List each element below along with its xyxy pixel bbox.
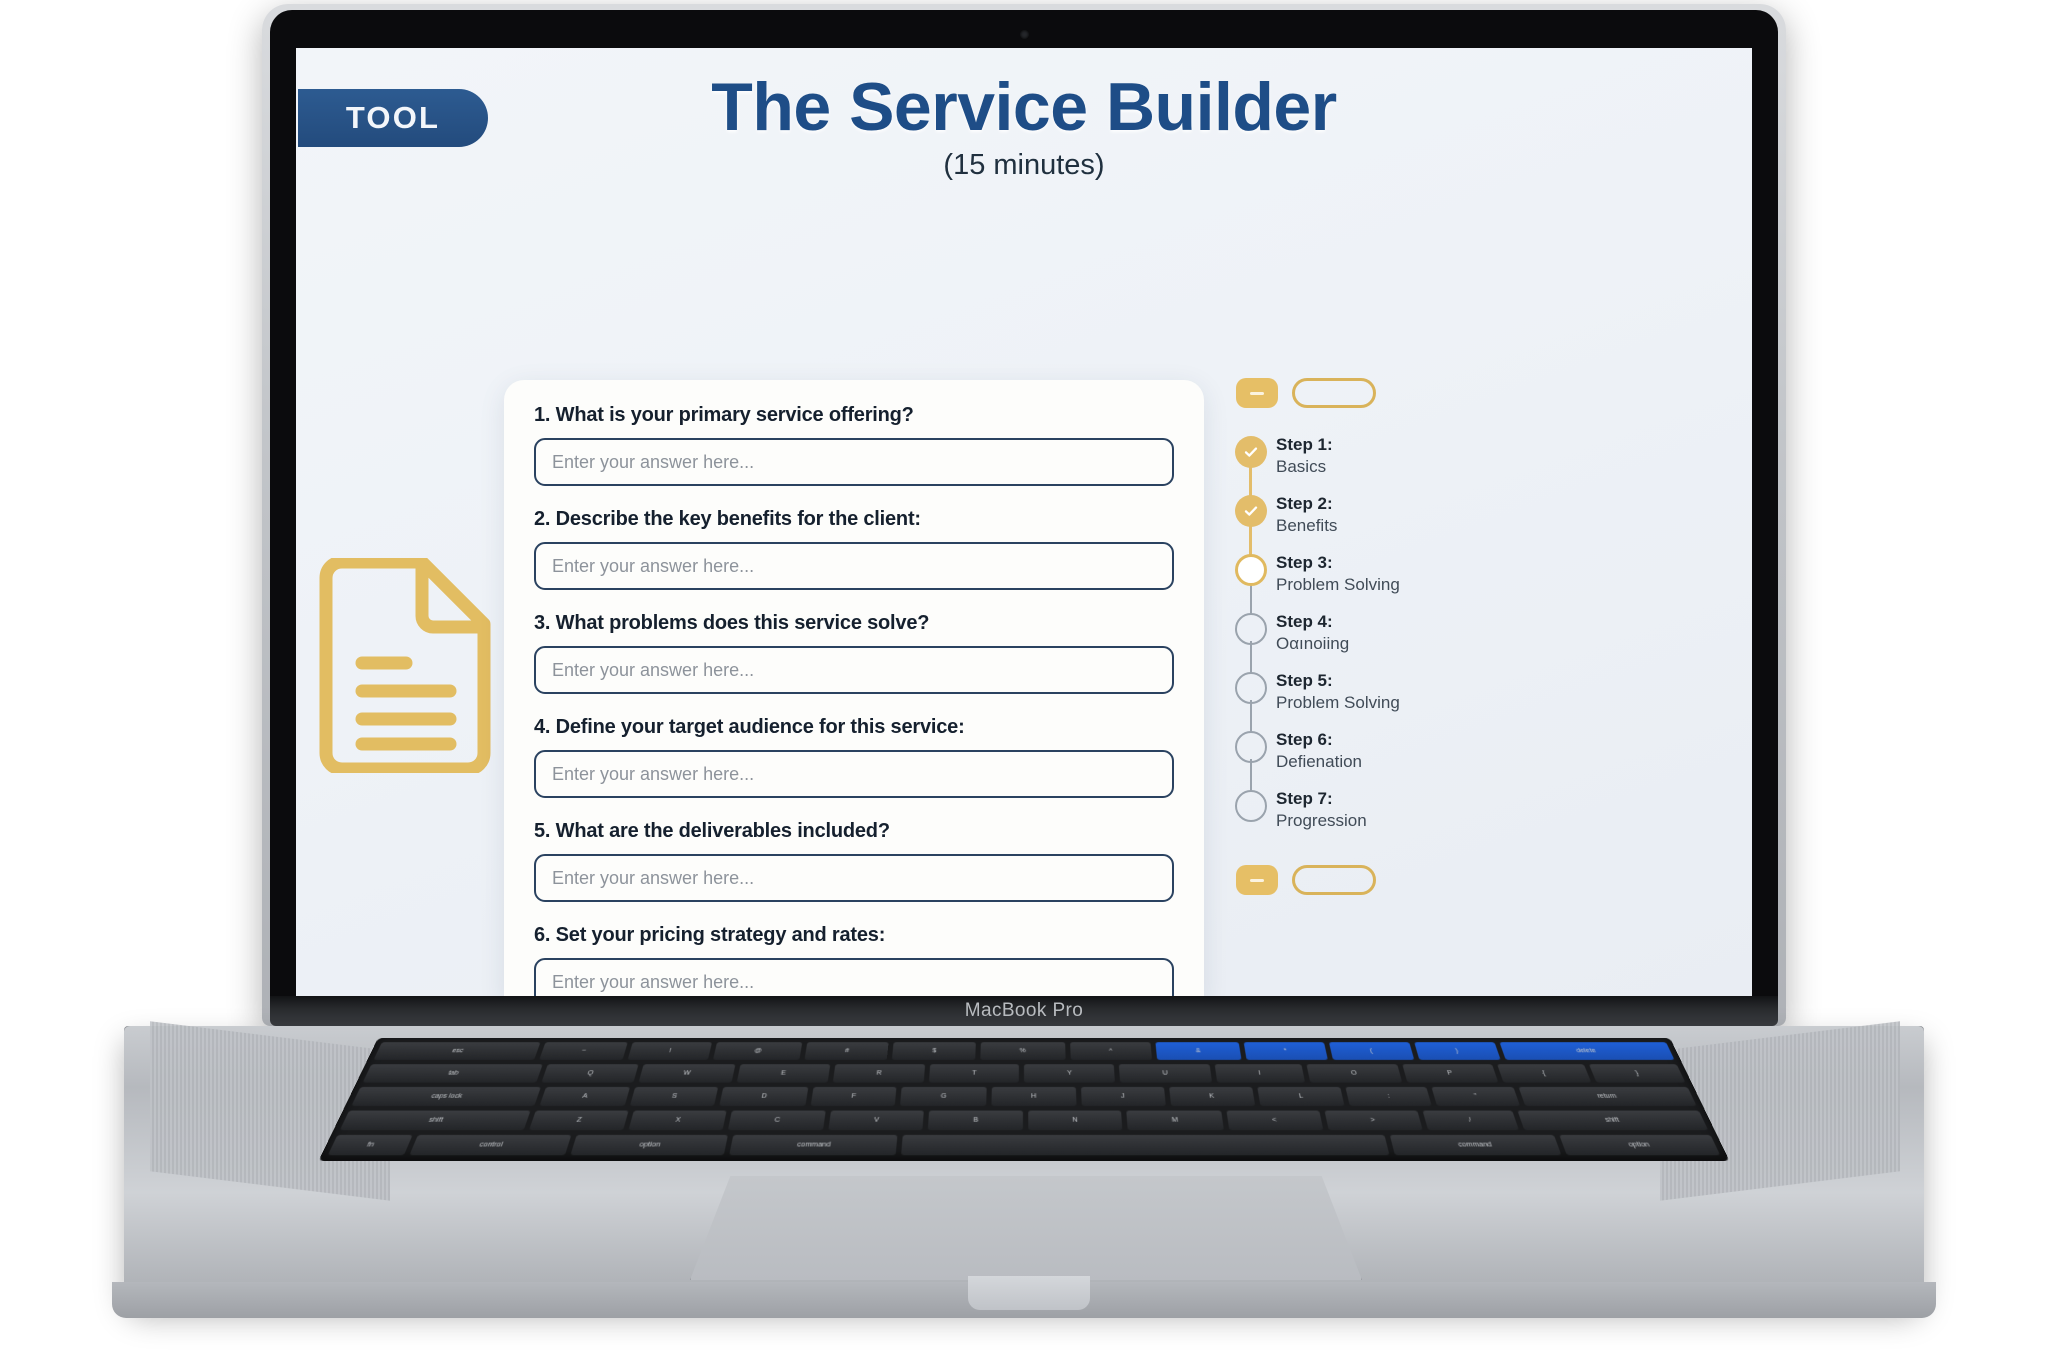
key-D[interactable]: D <box>720 1087 808 1106</box>
key-O[interactable]: O <box>1306 1064 1402 1082</box>
key-fn[interactable]: fn <box>328 1135 413 1155</box>
step-text: Step 7:Progression <box>1276 788 1367 831</box>
question-label: 5. What are the deliverables included? <box>534 820 1174 843</box>
step-label: Basics <box>1276 456 1333 478</box>
document-icon <box>302 558 502 778</box>
screen-viewport: TOOL The Service Builder (15 minutes) <box>296 48 1752 996</box>
key-delete[interactable]: delete <box>1499 1042 1674 1060</box>
key-A[interactable]: A <box>539 1087 629 1106</box>
key-B[interactable]: B <box>928 1111 1022 1131</box>
step-text: Step 3:Problem Solving <box>1276 552 1400 595</box>
step-title: Step 2: <box>1276 494 1337 515</box>
step-item-5[interactable]: Step 5:Problem Solving <box>1232 670 1492 729</box>
key-caps lock[interactable]: caps lock <box>351 1087 540 1106</box>
check-icon <box>1242 443 1260 461</box>
camera-icon <box>1020 30 1029 39</box>
key-space[interactable] <box>901 1135 1390 1155</box>
step-item-6[interactable]: Step 6:Defienation <box>1232 729 1492 788</box>
key-V[interactable]: V <box>828 1111 924 1131</box>
device-model-label: MacBook Pro <box>965 1000 1083 1022</box>
question-block: 3. What problems does this service solve… <box>534 612 1174 694</box>
page-subtitle: (15 minutes) <box>296 149 1752 182</box>
step-node-done[interactable] <box>1235 436 1267 468</box>
answer-input[interactable] <box>534 958 1174 996</box>
step-node-todo[interactable] <box>1235 613 1267 645</box>
step-connector <box>1250 700 1252 732</box>
stepper-top-pill-button[interactable] <box>1292 378 1376 408</box>
step-node-todo[interactable] <box>1235 672 1267 704</box>
step-node-todo[interactable] <box>1235 790 1267 822</box>
key-H[interactable]: H <box>991 1087 1076 1106</box>
question-label: 3. What problems does this service solve… <box>534 612 1174 635</box>
question-block: 5. What are the deliverables included? <box>534 820 1174 902</box>
key-~[interactable]: ~ <box>539 1042 627 1060</box>
key-command[interactable]: command <box>729 1135 897 1155</box>
step-title: Step 5: <box>1276 671 1400 692</box>
key-{[interactable]: { <box>1497 1064 1592 1082</box>
key-F[interactable]: F <box>810 1087 896 1106</box>
step-item-1[interactable]: Step 1:Basics <box>1232 434 1492 493</box>
keyboard-row-4: shiftZXCVBNM<>/shift <box>333 1111 1714 1131</box>
key-option[interactable]: option <box>1559 1135 1720 1155</box>
key-S[interactable]: S <box>630 1087 719 1106</box>
question-label: 6. Set your pricing strategy and rates: <box>534 924 1174 947</box>
key-M[interactable]: M <box>1127 1111 1224 1131</box>
answer-input[interactable] <box>534 542 1174 590</box>
key-shift[interactable]: shift <box>340 1111 531 1131</box>
key-R[interactable]: R <box>832 1064 925 1082</box>
key-W[interactable]: W <box>638 1064 735 1082</box>
laptop-front-notch <box>968 1276 1090 1310</box>
key-^[interactable]: ^ <box>1070 1042 1153 1060</box>
key-P[interactable]: P <box>1402 1064 1498 1082</box>
answer-input[interactable] <box>534 854 1174 902</box>
question-block: 6. Set your pricing strategy and rates: <box>534 924 1174 996</box>
answer-input[interactable] <box>534 438 1174 486</box>
step-item-2[interactable]: Step 2:Benefits <box>1232 493 1492 552</box>
question-block: 4. Define your target audience for this … <box>534 716 1174 798</box>
key-$[interactable]: $ <box>892 1042 975 1060</box>
key-Y[interactable]: Y <box>1024 1064 1115 1082</box>
page-title: The Service Builder <box>296 72 1752 143</box>
key-T[interactable]: T <box>929 1064 1020 1082</box>
key-/[interactable]: / <box>1422 1111 1519 1131</box>
key-control[interactable]: control <box>409 1135 571 1155</box>
step-text: Step 1:Basics <box>1276 434 1333 477</box>
question-label: 1. What is your primary service offering… <box>534 404 1174 427</box>
step-connector <box>1250 641 1252 673</box>
key-C[interactable]: C <box>728 1111 826 1131</box>
minus-icon <box>1250 392 1264 395</box>
step-connector <box>1249 523 1252 555</box>
key-*[interactable]: * <box>1243 1042 1327 1060</box>
step-node-done[interactable] <box>1235 495 1267 527</box>
step-node-current[interactable] <box>1235 554 1267 586</box>
key-option[interactable]: option <box>570 1135 728 1155</box>
step-label: Benefits <box>1276 515 1337 537</box>
key-:[interactable]: : <box>1346 1087 1432 1106</box>
trackpad[interactable] <box>690 1176 1362 1280</box>
step-label: Defienation <box>1276 751 1362 773</box>
question-block: 2. Describe the key benefits for the cli… <box>534 508 1174 590</box>
step-connector <box>1249 464 1252 496</box>
page-header: TOOL The Service Builder (15 minutes) <box>296 48 1752 228</box>
step-title: Step 1: <box>1276 435 1333 456</box>
key-K[interactable]: K <box>1169 1087 1256 1106</box>
answer-input[interactable] <box>534 750 1174 798</box>
check-icon <box>1242 502 1260 520</box>
laptop-chin: MacBook Pro <box>270 996 1778 1026</box>
step-item-3[interactable]: Step 3:Problem Solving <box>1232 552 1492 611</box>
key-esc[interactable]: esc <box>373 1042 540 1060</box>
page-body: 1. What is your primary service offering… <box>296 228 1752 996</box>
step-title: Step 7: <box>1276 789 1367 810</box>
collapse-button-bottom[interactable] <box>1236 865 1278 895</box>
step-item-7[interactable]: Step 7:Progression <box>1232 788 1492 847</box>
step-text: Step 5:Problem Solving <box>1276 670 1400 713</box>
key-N[interactable]: N <box>1028 1111 1123 1131</box>
stepper-top-controls <box>1236 378 1492 408</box>
minus-icon-bottom <box>1250 879 1264 882</box>
step-list: Step 1:BasicsStep 2:BenefitsStep 3:Probl… <box>1232 434 1492 847</box>
key-Z[interactable]: Z <box>529 1111 629 1131</box>
keyboard-row-1: esc~!@#$%^&*()delete <box>367 1042 1680 1060</box>
step-text: Step 4:Oαınoiing <box>1276 611 1349 654</box>
keyboard-row-2: tabQWERTYUIOP{} <box>356 1064 1691 1082</box>
question-label: 2. Describe the key benefits for the cli… <box>534 508 1174 531</box>
key-%[interactable]: % <box>980 1042 1065 1060</box>
key-E[interactable]: E <box>736 1064 830 1082</box>
question-label: 4. Define your target audience for this … <box>534 716 1174 739</box>
keyboard-row-3: caps lockASDFGHJKL:"return <box>345 1087 1703 1106</box>
key-L[interactable]: L <box>1258 1087 1345 1106</box>
key->[interactable]: > <box>1324 1111 1422 1131</box>
question-block: 1. What is your primary service offering… <box>534 404 1174 486</box>
step-node-todo[interactable] <box>1235 731 1267 763</box>
question-list: 1. What is your primary service offering… <box>534 404 1174 996</box>
screenshot-root: TOOL The Service Builder (15 minutes) <box>0 0 2048 1350</box>
keyboard[interactable]: esc~!@#$%^&*()deletetabQWERTYUIOP{}caps … <box>318 1038 1729 1161</box>
key-X[interactable]: X <box>628 1111 727 1131</box>
keyboard-row-5: fncontroloptioncommandcommandoption <box>321 1135 1727 1155</box>
stepper-bottom-pill-button[interactable] <box>1292 865 1376 895</box>
key-J[interactable]: J <box>1081 1087 1165 1106</box>
step-label: Problem Solving <box>1276 574 1400 596</box>
key-U[interactable]: U <box>1119 1064 1212 1082</box>
key-G[interactable]: G <box>900 1087 986 1106</box>
key-&[interactable]: & <box>1156 1042 1241 1060</box>
key-@[interactable]: @ <box>713 1042 802 1060</box>
step-label: Oαınoiing <box>1276 633 1349 655</box>
key-#[interactable]: # <box>804 1042 889 1060</box>
collapse-button[interactable] <box>1236 378 1278 408</box>
key-([interactable]: ( <box>1329 1042 1414 1060</box>
key-)[interactable]: ) <box>1414 1042 1500 1060</box>
step-connector <box>1250 582 1252 614</box>
key-}[interactable]: } <box>1589 1064 1685 1082</box>
step-label: Problem Solving <box>1276 692 1400 714</box>
key-![interactable]: ! <box>627 1042 712 1060</box>
step-connector <box>1250 759 1252 791</box>
step-item-4[interactable]: Step 4:Oαınoiing <box>1232 611 1492 670</box>
step-title: Step 4: <box>1276 612 1349 633</box>
title-block: The Service Builder (15 minutes) <box>296 72 1752 182</box>
step-text: Step 2:Benefits <box>1276 493 1337 536</box>
key-tab[interactable]: tab <box>363 1064 543 1082</box>
step-title: Step 6: <box>1276 730 1362 751</box>
key-Q[interactable]: Q <box>541 1064 638 1082</box>
step-title: Step 3: <box>1276 553 1400 574</box>
key-I[interactable]: I <box>1214 1064 1305 1082</box>
step-label: Progression <box>1276 810 1367 832</box>
key-"[interactable]: " <box>1432 1087 1520 1106</box>
key-command[interactable]: command <box>1390 1135 1561 1155</box>
questionnaire-card: 1. What is your primary service offering… <box>504 380 1204 996</box>
progress-stepper: Step 1:BasicsStep 2:BenefitsStep 3:Probl… <box>1232 378 1492 895</box>
answer-input[interactable] <box>534 646 1174 694</box>
key-shift[interactable]: shift <box>1518 1111 1709 1131</box>
key-return[interactable]: return <box>1519 1087 1697 1106</box>
stepper-bottom-controls <box>1236 865 1492 895</box>
key-<[interactable]: < <box>1226 1111 1323 1131</box>
step-text: Step 6:Defienation <box>1276 729 1362 772</box>
